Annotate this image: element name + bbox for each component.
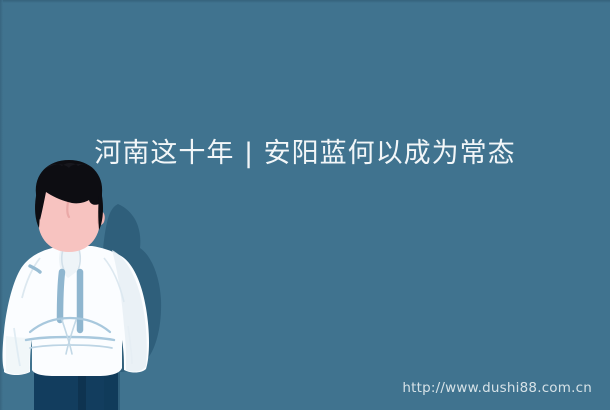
cover-image: 河南这十年 | 安阳蓝何以成为常态 http://www.dushi88.com… <box>0 0 610 410</box>
watermark-url: http://www.dushi88.com.cn <box>402 380 592 396</box>
illustration-young-man-in-white-hoodie <box>0 160 190 410</box>
hoodie <box>3 246 150 376</box>
page-title: 河南这十年 | 安阳蓝何以成为常态 <box>0 137 610 171</box>
top-edge-line <box>0 0 610 3</box>
